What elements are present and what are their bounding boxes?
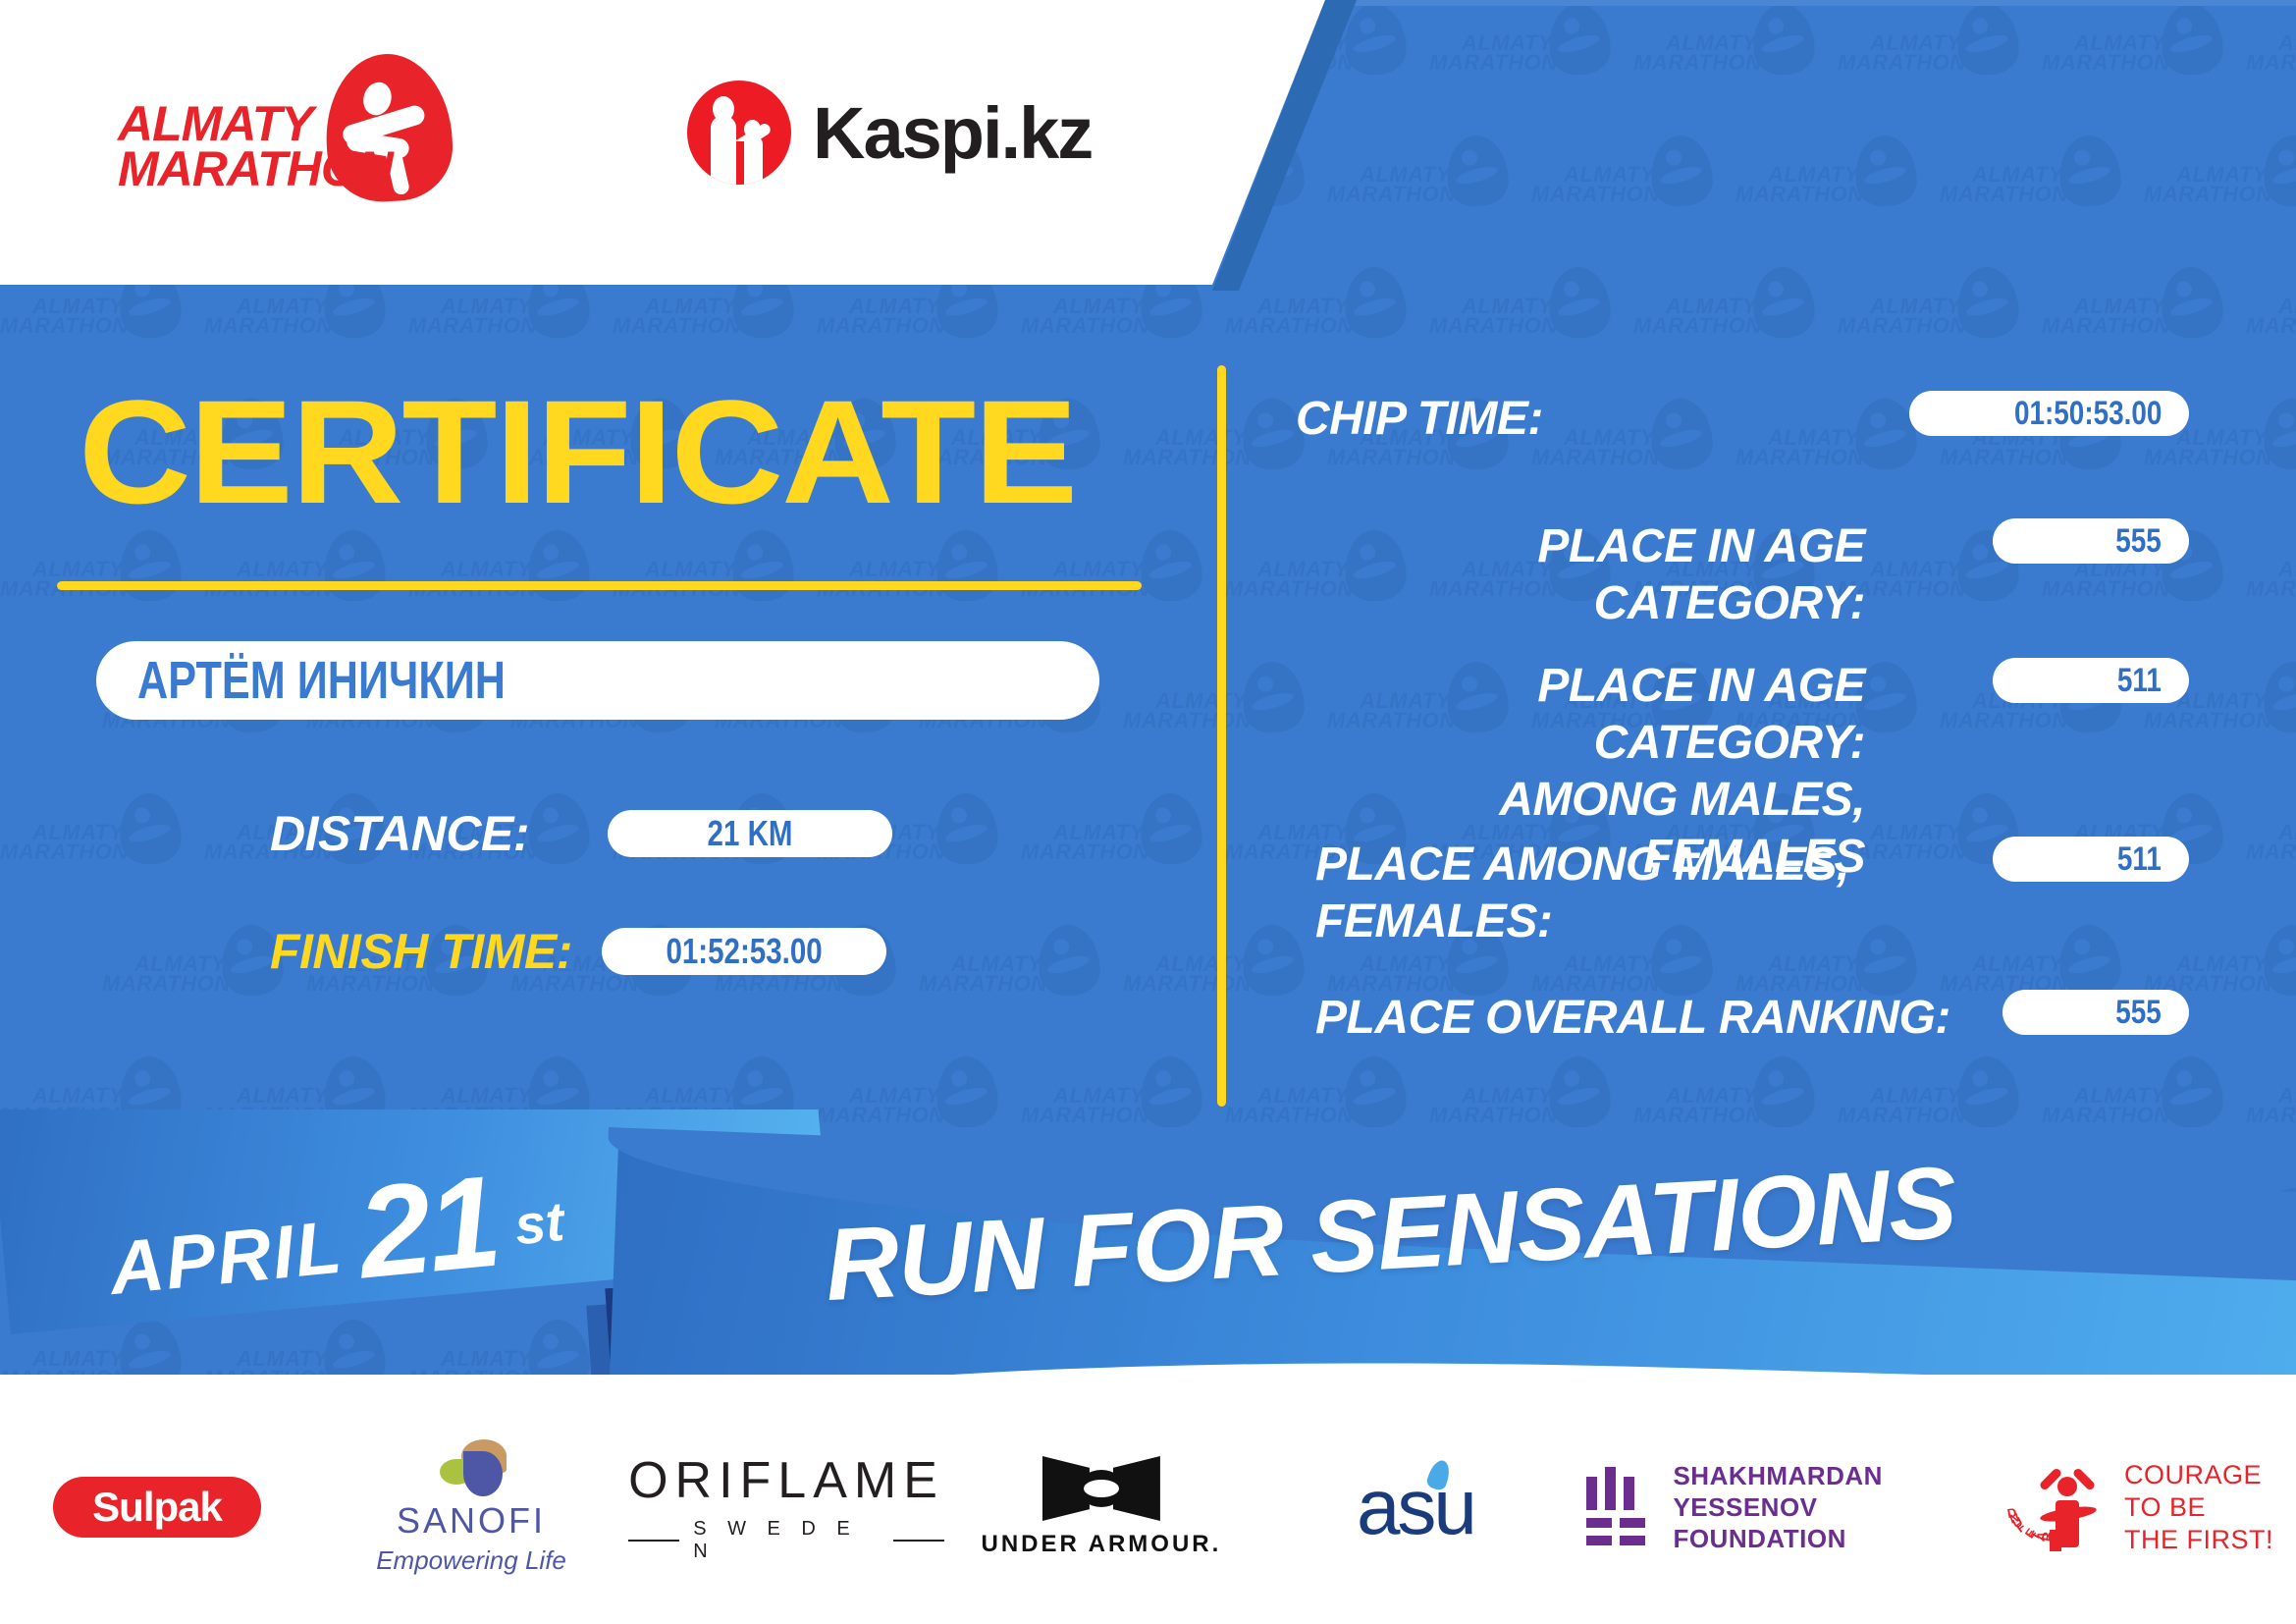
watermark-tile: ALMATYMARATHON — [1123, 921, 1309, 1039]
courage-figure-icon — [2038, 1469, 2099, 1551]
oriflame-label: ORIFLAME — [628, 1451, 944, 1510]
watermark-tile: ALMATYMARATHON — [1021, 789, 1207, 907]
sponsor-asu: asu — [1258, 1434, 1573, 1581]
finish-time-label: FINISH TIME: — [270, 923, 572, 980]
yessenov-label: SHAKHMARDAN YESSENOV FOUNDATION — [1673, 1460, 1967, 1554]
asu-logo: asu — [1357, 1462, 1474, 1552]
place-age-category-value-pill: 555 — [1993, 518, 2189, 564]
courage-label: COURAGETO BETHE FIRST! — [2124, 1459, 2273, 1556]
kaspi-logo: Kaspi.kz — [687, 79, 1092, 187]
event-day: 21 — [354, 1166, 503, 1287]
courage-to-be-the-first-logo: CORPORATE FUND — [2004, 1453, 2112, 1561]
watermark-tile: ALMATYMARATHON — [1123, 658, 1309, 776]
almaty-marathon-wordmark: ALMATY MARATHON — [118, 101, 432, 191]
watermark-tile: ALMATYMARATHON — [1123, 395, 1309, 513]
athlete-name-value: АРТЁМ ИНИЧКИН — [137, 650, 506, 711]
sanofi-tagline: Empowering Life — [376, 1545, 566, 1576]
logo-line-1: ALMATY — [118, 101, 432, 146]
certificate-page: ALMATYMARATHONALMATYMARATHONALMATYMARATH… — [0, 0, 2296, 1624]
place-among-gender-value-pill: 511 — [1993, 837, 2189, 882]
watermark-tile: ALMATYMARATHON — [2144, 132, 2296, 249]
watermark-tile: ALMATYMARATHON — [1633, 0, 1820, 118]
watermark-tile: ALMATYMARATHON — [1838, 0, 2024, 118]
chip-time-row: CHIP TIME: 01:50:53.00 — [1296, 391, 2189, 448]
event-day-suffix: st — [510, 1174, 568, 1272]
watermark-tile: ALMATYMARATHON — [2246, 263, 2296, 381]
sulpak-logo: Sulpak — [53, 1477, 261, 1538]
watermark-tile: ALMATYMARATHON — [1429, 0, 1616, 118]
arc-letter: D — [2006, 1505, 2018, 1521]
sponsor-yessenov: SHAKHMARDAN YESSENOV FOUNDATION — [1573, 1434, 1982, 1581]
watermark-tile: ALMATYMARATHON — [919, 921, 1105, 1039]
sponsor-sanofi: SANOFI Empowering Life — [314, 1434, 628, 1581]
watermark-tile: ALMATYMARATHON — [1735, 132, 1922, 249]
label-line-2: FEMALES: — [1315, 893, 1865, 950]
distance-value-pill: 21 KM — [608, 810, 892, 857]
place-overall-ranking-row: PLACE OVERALL RANKING: 555 — [1296, 990, 2189, 1047]
under-armour-logo — [1042, 1456, 1160, 1521]
place-among-gender-value: 511 — [2117, 840, 2162, 879]
sanofi-logo — [434, 1439, 508, 1496]
distance-value: 21 KM — [708, 813, 793, 854]
vertical-divider — [1217, 365, 1226, 1107]
watermark-tile: ALMATYMARATHON — [1429, 263, 1616, 381]
athlete-name-field: АРТЁМ ИНИЧКИН — [96, 641, 1099, 720]
finish-time-value-pill: 01:52:53.00 — [602, 928, 886, 975]
yessenov-foundation-logo — [1586, 1467, 1651, 1547]
chip-time-value: 01:50:53.00 — [2014, 395, 2162, 433]
label-line-1: PLACE AMONG MALES, — [1315, 837, 1865, 893]
watermark-tile: ALMATYMARATHON — [1531, 132, 1718, 249]
place-among-gender-row: PLACE AMONG MALES, FEMALES: 511 — [1296, 837, 2189, 950]
place-age-category-row: PLACE IN AGE CATEGORY: 555 — [1296, 518, 2189, 632]
logo-line-2: MARATHON — [118, 146, 432, 191]
finish-time-row: FINISH TIME: 01:52:53.00 — [270, 923, 886, 980]
watermark-tile: ALMATYMARATHON — [1838, 263, 2024, 381]
sulpak-label: Sulpak — [92, 1484, 222, 1531]
oriflame-sub: S W E D E N — [628, 1518, 944, 1563]
distance-row: DISTANCE: 21 KM — [270, 805, 892, 862]
sponsor-sulpak: Sulpak — [0, 1434, 314, 1581]
label-line-1: PLACE IN AGE CATEGORY: — [1296, 658, 1865, 772]
title-underline — [57, 581, 1142, 590]
watermark-tile: ALMATYMARATHON — [2246, 526, 2296, 644]
watermark-tile: ALMATYMARATHON — [1940, 132, 2126, 249]
oriflame-tagline: S W E D E N — [693, 1518, 880, 1563]
distance-label: DISTANCE: — [270, 805, 529, 862]
almaty-marathon-logo: ALMATY MARATHON — [118, 54, 569, 221]
watermark-tile: ALMATYMARATHON — [1633, 263, 1820, 381]
sanofi-label: SANOFI — [397, 1500, 546, 1542]
place-age-category-value: 555 — [2115, 522, 2162, 561]
watermark-tile: ALMATYMARATHON — [2042, 263, 2228, 381]
place-age-category-gender-value-pill: 511 — [1993, 658, 2189, 703]
watermark-tile: ALMATYMARATHON — [1327, 132, 1514, 249]
kaspi-wordmark: Kaspi.kz — [813, 91, 1092, 175]
kaspi-people-circle-icon — [687, 81, 791, 185]
watermark-tile: ALMATYMARATHON — [0, 789, 187, 907]
watermark-tile: ALMATYMARATHON — [102, 921, 289, 1039]
watermark-tile: ALMATYMARATHON — [2246, 789, 2296, 907]
under-armour-label: UNDER ARMOUR. — [982, 1531, 1222, 1558]
sponsor-logos: Sulpak SANOFI Empowering Life ORIFLAME S… — [0, 1424, 2296, 1591]
chip-time-value-pill: 01:50:53.00 — [1909, 391, 2189, 436]
sponsor-courage: CORPORATE FUND COURAGETO BETHE FIRST! — [1982, 1434, 2296, 1581]
watermark-tile: ALMATYMARATHON — [1225, 263, 1412, 381]
place-overall-ranking-value: 555 — [2115, 994, 2162, 1032]
watermark-tile: ALMATYMARATHON — [2246, 0, 2296, 118]
finish-time-value: 01:52:53.00 — [666, 931, 822, 972]
page-title: CERTIFICATE — [79, 378, 1076, 525]
place-overall-ranking-value-pill: 555 — [2002, 990, 2189, 1035]
sponsor-oriflame: ORIFLAME S W E D E N — [628, 1434, 944, 1581]
asu-label: asu — [1357, 1462, 1474, 1552]
place-age-category-gender-value: 511 — [2117, 662, 2162, 700]
sponsor-under-armour: UNDER ARMOUR. — [944, 1434, 1258, 1581]
watermark-tile: ALMATYMARATHON — [2042, 0, 2228, 118]
